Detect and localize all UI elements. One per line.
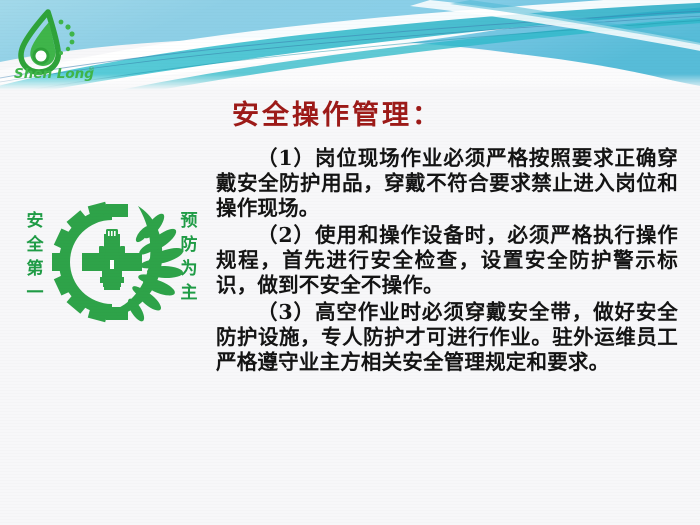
list-item: （2）使用和操作设备时，必须严格执行操作规程，首先进行安全检查，设置安全防护警示…	[216, 223, 678, 298]
list-item: （3）高空作业时必须穿戴安全带，做好安全防护设施，专人防护才可进行作业。驻外运维…	[216, 300, 678, 375]
svg-text:主: 主	[181, 282, 198, 303]
safety-first-emblem: 安 全 第 一 预 防 为 主	[22, 196, 202, 328]
figure-leg-gap	[110, 260, 114, 269]
emblem-left-motto: 安 全 第 一	[26, 210, 45, 303]
svg-text:第: 第	[27, 258, 44, 279]
header-banner	[0, 0, 700, 90]
page-title: 安全操作管理：	[232, 93, 442, 132]
emblem-right-motto: 预 防 为 主	[181, 211, 198, 303]
list-item: （1）岗位现场作业必须严格按照要求正确穿戴安全防护用品，穿戴不符合要求禁止进入岗…	[216, 146, 678, 221]
tower-figure-icon	[99, 229, 125, 287]
svg-text:一: 一	[27, 283, 44, 303]
safety-rules-list: （1）岗位现场作业必须严格按照要求正确穿戴安全防护用品，穿戴不符合要求禁止进入岗…	[216, 146, 678, 377]
logo-dots-icon	[59, 20, 75, 55]
svg-text:安: 安	[27, 210, 44, 231]
svg-text:全: 全	[26, 234, 45, 255]
tower-cap-slits-icon	[108, 231, 116, 236]
svg-text:为: 为	[181, 258, 198, 279]
slide-canvas: Shen Long ® 安全操作管理： （1）岗位现场作业必须严格按照要求正确穿…	[0, 0, 700, 525]
shen-long-logo: Shen Long ®	[8, 6, 104, 82]
water-drop-icon	[21, 12, 58, 72]
logo-wordmark: Shen Long	[14, 66, 94, 82]
svg-text:预: 预	[181, 211, 198, 231]
registered-mark-icon: ®	[88, 66, 95, 74]
